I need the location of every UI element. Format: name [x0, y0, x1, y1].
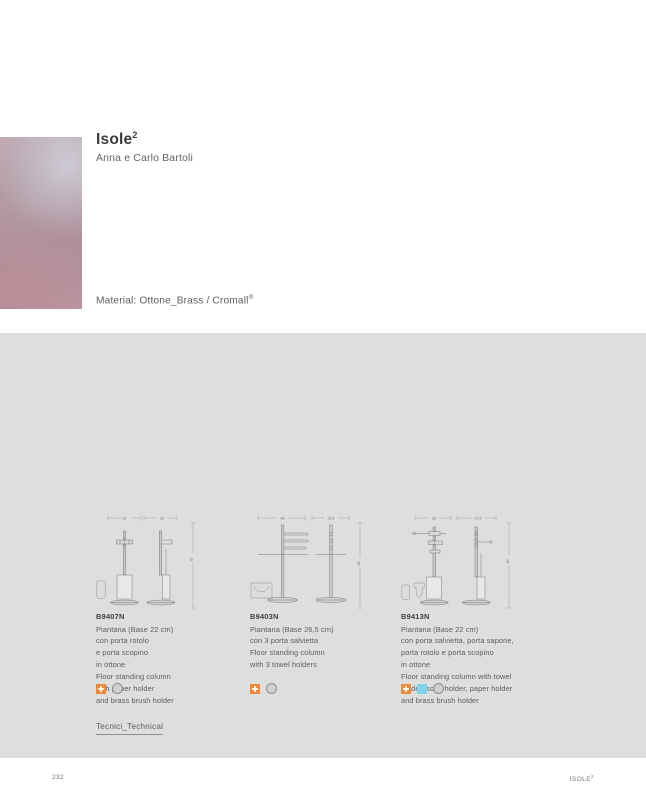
page-title-text: Isole — [96, 131, 132, 148]
swatches-b9403n — [250, 683, 277, 694]
dim-height: 90 — [506, 560, 510, 564]
technical-drawing-b9407n: 22 22 75 — [96, 509, 208, 617]
dim-height: 92 — [357, 562, 361, 566]
swatch-orange[interactable] — [401, 684, 411, 694]
product-description: Piantana (Base 22 cm) con porta salviett… — [401, 624, 514, 708]
technical-drawing-b9403n: 48 26,5 92 — [250, 509, 368, 617]
material-text: Material: Ottone_Brass / Cromall — [96, 295, 249, 306]
dim-width-front: 35 — [432, 517, 436, 521]
swatch-cyan[interactable] — [417, 684, 427, 694]
dim-width-front: 48 — [281, 517, 285, 521]
product-description: Piantana (Base 26,5 cm) con 3 porta salv… — [250, 624, 334, 672]
dim-width-side: 27,5 — [475, 517, 482, 521]
desc-line: Floor standing column — [250, 647, 334, 659]
technical-drawing-b9413n: 35 27,5 90 — [401, 509, 517, 617]
swatch-chrome[interactable] — [266, 683, 277, 694]
footer-collection-name: ISOLE2 — [570, 774, 594, 783]
material-label: Material: Ottone_Brass / Cromall® — [96, 294, 254, 306]
desc-line: in ottone — [96, 659, 174, 671]
swatch-orange[interactable] — [250, 684, 260, 694]
products-panel: 22 22 75 — [0, 333, 646, 758]
desc-line: Piantana (Base 22 cm) — [401, 624, 514, 636]
hero-area: Isole2 Anna e Carlo Bartoli Material: Ot… — [0, 0, 646, 333]
title-block: Isole2 Anna e Carlo Bartoli — [96, 131, 193, 164]
desc-line: Piantana (Base 22 cm) — [96, 624, 174, 636]
dim-height: 75 — [190, 558, 194, 562]
desc-line: with 3 towel holders — [250, 659, 334, 671]
product-code: B9413N — [401, 612, 514, 621]
desc-line: con porta rotolo — [96, 635, 174, 647]
registered-trademark-icon: ® — [249, 294, 254, 301]
product-text-b9403n: B9403N Piantana (Base 26,5 cm) con 3 por… — [250, 612, 334, 671]
swatches-b9413n — [401, 683, 444, 694]
page-footer: 232 ISOLE2 — [0, 758, 646, 807]
desc-line: Piantana (Base 26,5 cm) — [250, 624, 334, 636]
mauve-gradient-photo — [0, 137, 82, 309]
desc-line: con porta salvietta, porta sapone, — [401, 635, 514, 647]
plus-icon — [98, 686, 104, 692]
plus-icon — [252, 686, 258, 692]
dim-width-front: 22 — [123, 517, 127, 521]
plus-icon — [403, 686, 409, 692]
technical-drawings-link[interactable]: Tecnici_Technical — [96, 722, 163, 735]
dim-width-side: 22 — [160, 517, 164, 521]
swatch-chrome[interactable] — [112, 683, 123, 694]
product-description: Piantana (Base 22 cm) con porta rotolo e… — [96, 624, 174, 708]
desc-line: e porta scopino — [96, 647, 174, 659]
desc-line: and brass brush holder — [401, 695, 514, 707]
footer-collection-superscript: 2 — [591, 774, 594, 779]
desc-line: Floor standing column with towel — [401, 671, 514, 683]
desc-line: in ottone — [401, 659, 514, 671]
swatches-b9407n — [96, 683, 123, 694]
dim-width-side: 26,5 — [328, 517, 335, 521]
page-title-superscript: 2 — [132, 130, 137, 140]
page-number: 232 — [52, 774, 64, 781]
swatch-chrome[interactable] — [433, 683, 444, 694]
footer-collection-text: ISOLE — [570, 776, 591, 783]
product-code: B9403N — [250, 612, 334, 621]
desc-line: porta rotolo e porta scopino — [401, 647, 514, 659]
desc-line: con 3 porta salvietta — [250, 635, 334, 647]
page-title: Isole2 — [96, 131, 193, 148]
product-code: B9407N — [96, 612, 174, 621]
desc-line: Floor standing column — [96, 671, 174, 683]
swatch-orange[interactable] — [96, 684, 106, 694]
products-row: 22 22 75 — [0, 333, 646, 758]
designers-label: Anna e Carlo Bartoli — [96, 152, 193, 164]
desc-line: and brass brush holder — [96, 695, 174, 707]
